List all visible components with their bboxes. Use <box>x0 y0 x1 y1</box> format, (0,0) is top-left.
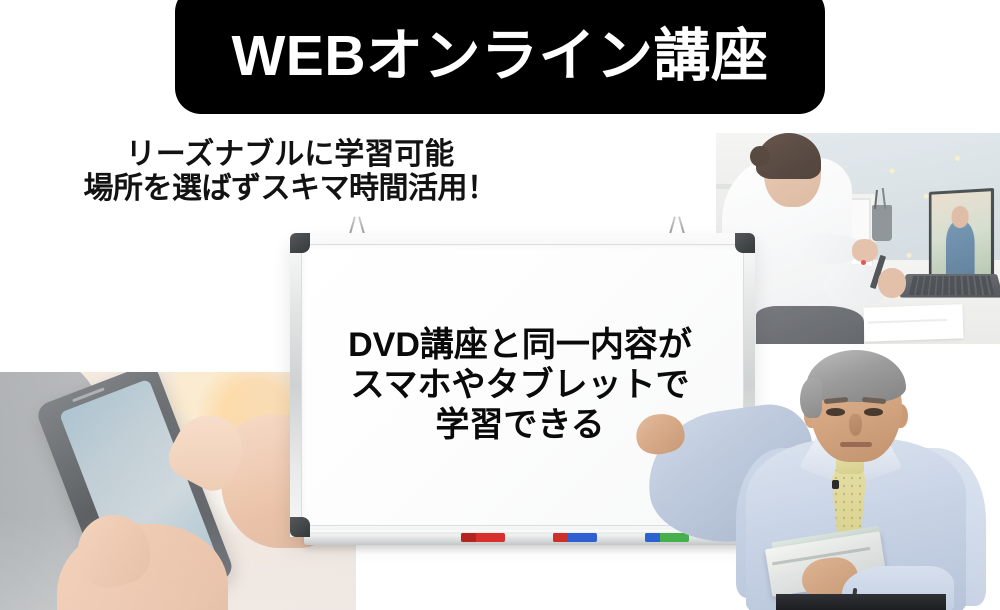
subtitle: リーズナブルに学習可能 場所を選ばずスキマ時間活用！ <box>0 138 580 205</box>
instructor-lapel-microphone <box>832 480 839 489</box>
whiteboard-hanger-left-icon <box>346 216 368 234</box>
slide-canvas: DVD講座と同一内容が スマホやタブレットで 学習できる <box>0 0 1000 610</box>
instructor-figure <box>640 352 1000 610</box>
instructor-mouth <box>840 442 872 447</box>
page-title: WEBオンライン講座 <box>232 28 769 85</box>
instructor-eye-right <box>864 408 883 416</box>
instructor-nose <box>849 414 862 436</box>
blue-marker-cap <box>553 533 568 542</box>
red-marker <box>461 533 505 542</box>
whiteboard-corner-bottom-left <box>290 517 310 537</box>
subtitle-line-2: 場所を選ばずスキマ時間活用！ <box>0 172 580 206</box>
whiteboard-hanger-right-icon <box>666 216 688 234</box>
instructor-belt <box>776 594 946 610</box>
instructor-sideburn <box>800 378 822 418</box>
red-marker-cap <box>461 533 476 542</box>
instructor-eye-left <box>826 408 845 416</box>
blue-marker <box>553 533 597 542</box>
subtitle-line-1: リーズナブルに学習可能 <box>0 138 580 172</box>
whiteboard-corner-top-left <box>290 233 310 253</box>
whiteboard-corner-top-right <box>735 233 755 253</box>
title-banner: WEBオンライン講座 <box>175 0 825 114</box>
photo-woman-at-laptop <box>716 133 1000 344</box>
photo-woman-overlay <box>716 133 1000 344</box>
